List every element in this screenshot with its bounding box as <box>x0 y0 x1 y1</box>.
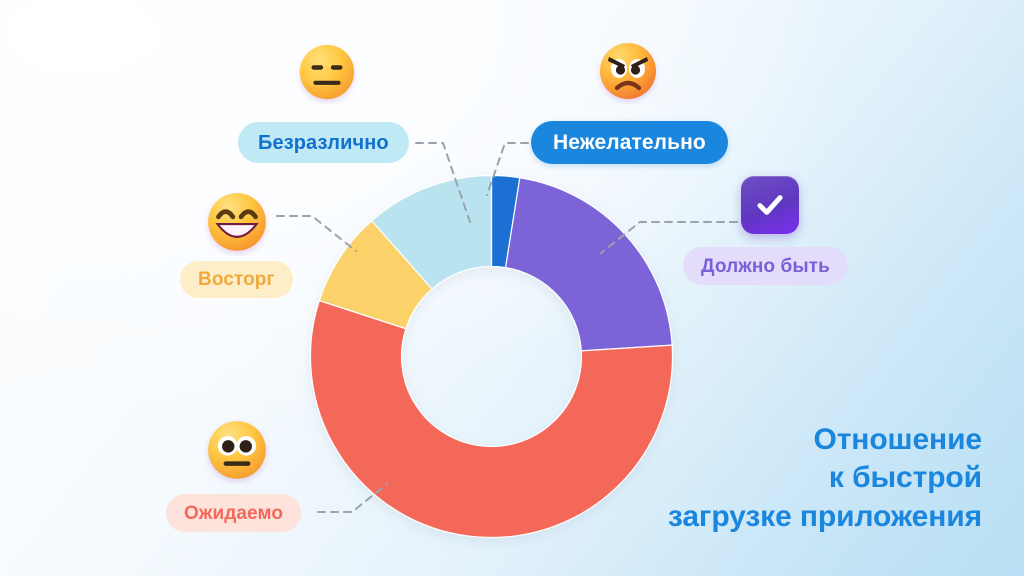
legend-label-unwanted: Нежелательно <box>553 132 706 153</box>
legend-label-must-be: Должно быть <box>701 257 830 276</box>
legend-pill-expected[interactable]: Ожидаемо <box>166 494 301 532</box>
checkmark-icon <box>753 188 787 222</box>
legend-pill-must-be[interactable]: Должно быть <box>683 247 848 285</box>
caption-line-3: загрузке приложения <box>668 498 982 536</box>
angry-face-emoji <box>596 40 660 104</box>
legend-pill-unwanted[interactable]: Нежелательно <box>531 121 728 164</box>
legend-label-expected: Ожидаемо <box>184 504 283 523</box>
donut-slice[interactable] <box>506 178 673 351</box>
chart-caption: Отношение к быстрой загрузке приложения <box>668 421 982 536</box>
legend-pill-indifferent[interactable]: Безразлично <box>238 122 409 163</box>
neutral-expressionless-face-emoji <box>296 42 358 104</box>
legend-label-delight: Восторг <box>198 270 275 289</box>
legend-pill-delight[interactable]: Восторг <box>180 261 293 298</box>
neutral-staring-face-emoji <box>204 418 270 484</box>
infographic-canvas: Безразлично Нежелательно Должно быть Вос… <box>0 0 1024 576</box>
caption-line-1: Отношение <box>668 421 982 459</box>
donut-chart <box>310 175 672 537</box>
purple-checkbox-checked-icon <box>741 176 799 234</box>
beaming-face-with-smiling-eyes-emoji <box>204 190 270 256</box>
caption-line-2: к быстрой <box>668 459 982 497</box>
donut-slice-group <box>311 176 673 538</box>
donut-chart-svg <box>310 175 672 537</box>
legend-label-indifferent: Безразлично <box>258 133 389 153</box>
